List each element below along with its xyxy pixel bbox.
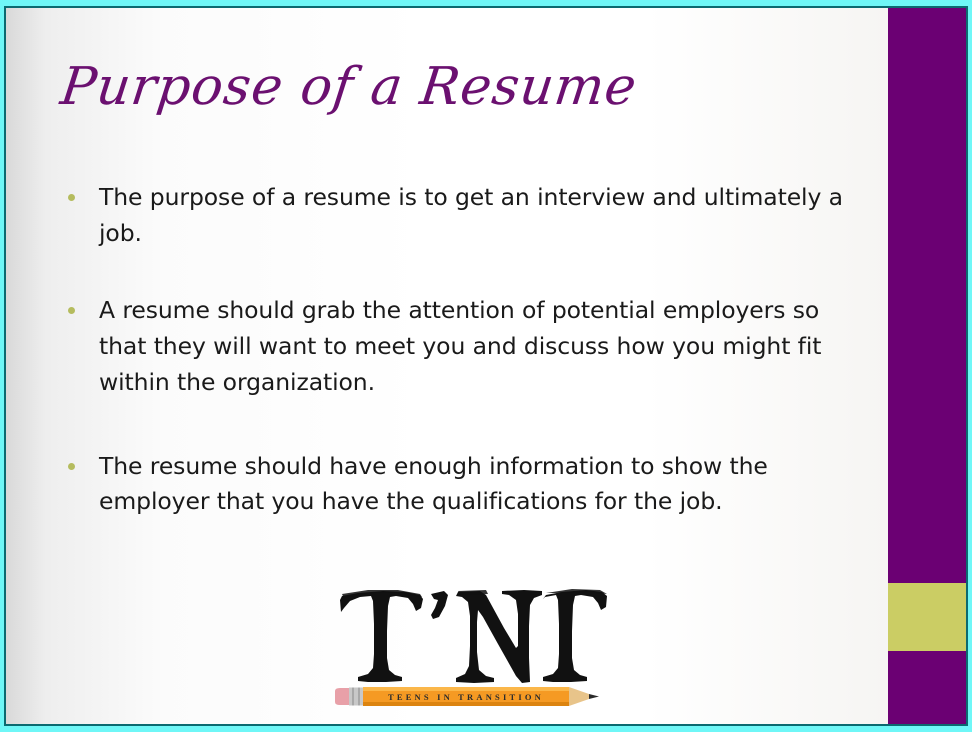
pencil-icon: TEENS IN TRANSITION (333, 683, 601, 709)
slide-title: Purpose of a Resume (58, 60, 640, 115)
list-item: The purpose of a resume is to get an int… (68, 180, 858, 251)
bullet-list: The purpose of a resume is to get an int… (68, 180, 858, 562)
side-block-olive (888, 583, 966, 651)
presentation-slide: Purpose of a Resume The purpose of a res… (0, 0, 972, 732)
bullet-dot-icon (68, 194, 75, 201)
bullet-dot-icon (68, 463, 75, 470)
bullet-text: The purpose of a resume is to get an int… (99, 180, 858, 251)
slide-border-bottom (0, 725, 972, 732)
pencil-tagline: TEENS IN TRANSITION (388, 692, 544, 702)
bullet-dot-icon (68, 307, 75, 314)
tnt-logo: TEENS IN TRANSITION (328, 586, 608, 716)
list-item: A resume should grab the attention of po… (68, 293, 858, 400)
list-item: The resume should have enough informatio… (68, 449, 858, 520)
tnt-wordmark-icon (328, 586, 608, 691)
bullet-text: The resume should have enough informatio… (99, 449, 858, 520)
bullet-text: A resume should grab the attention of po… (99, 293, 858, 400)
side-decoration-panel (888, 8, 966, 724)
side-block-purple-bottom (888, 651, 966, 724)
side-block-purple-top (888, 8, 966, 583)
slide-content-area: Purpose of a Resume The purpose of a res… (6, 8, 966, 724)
